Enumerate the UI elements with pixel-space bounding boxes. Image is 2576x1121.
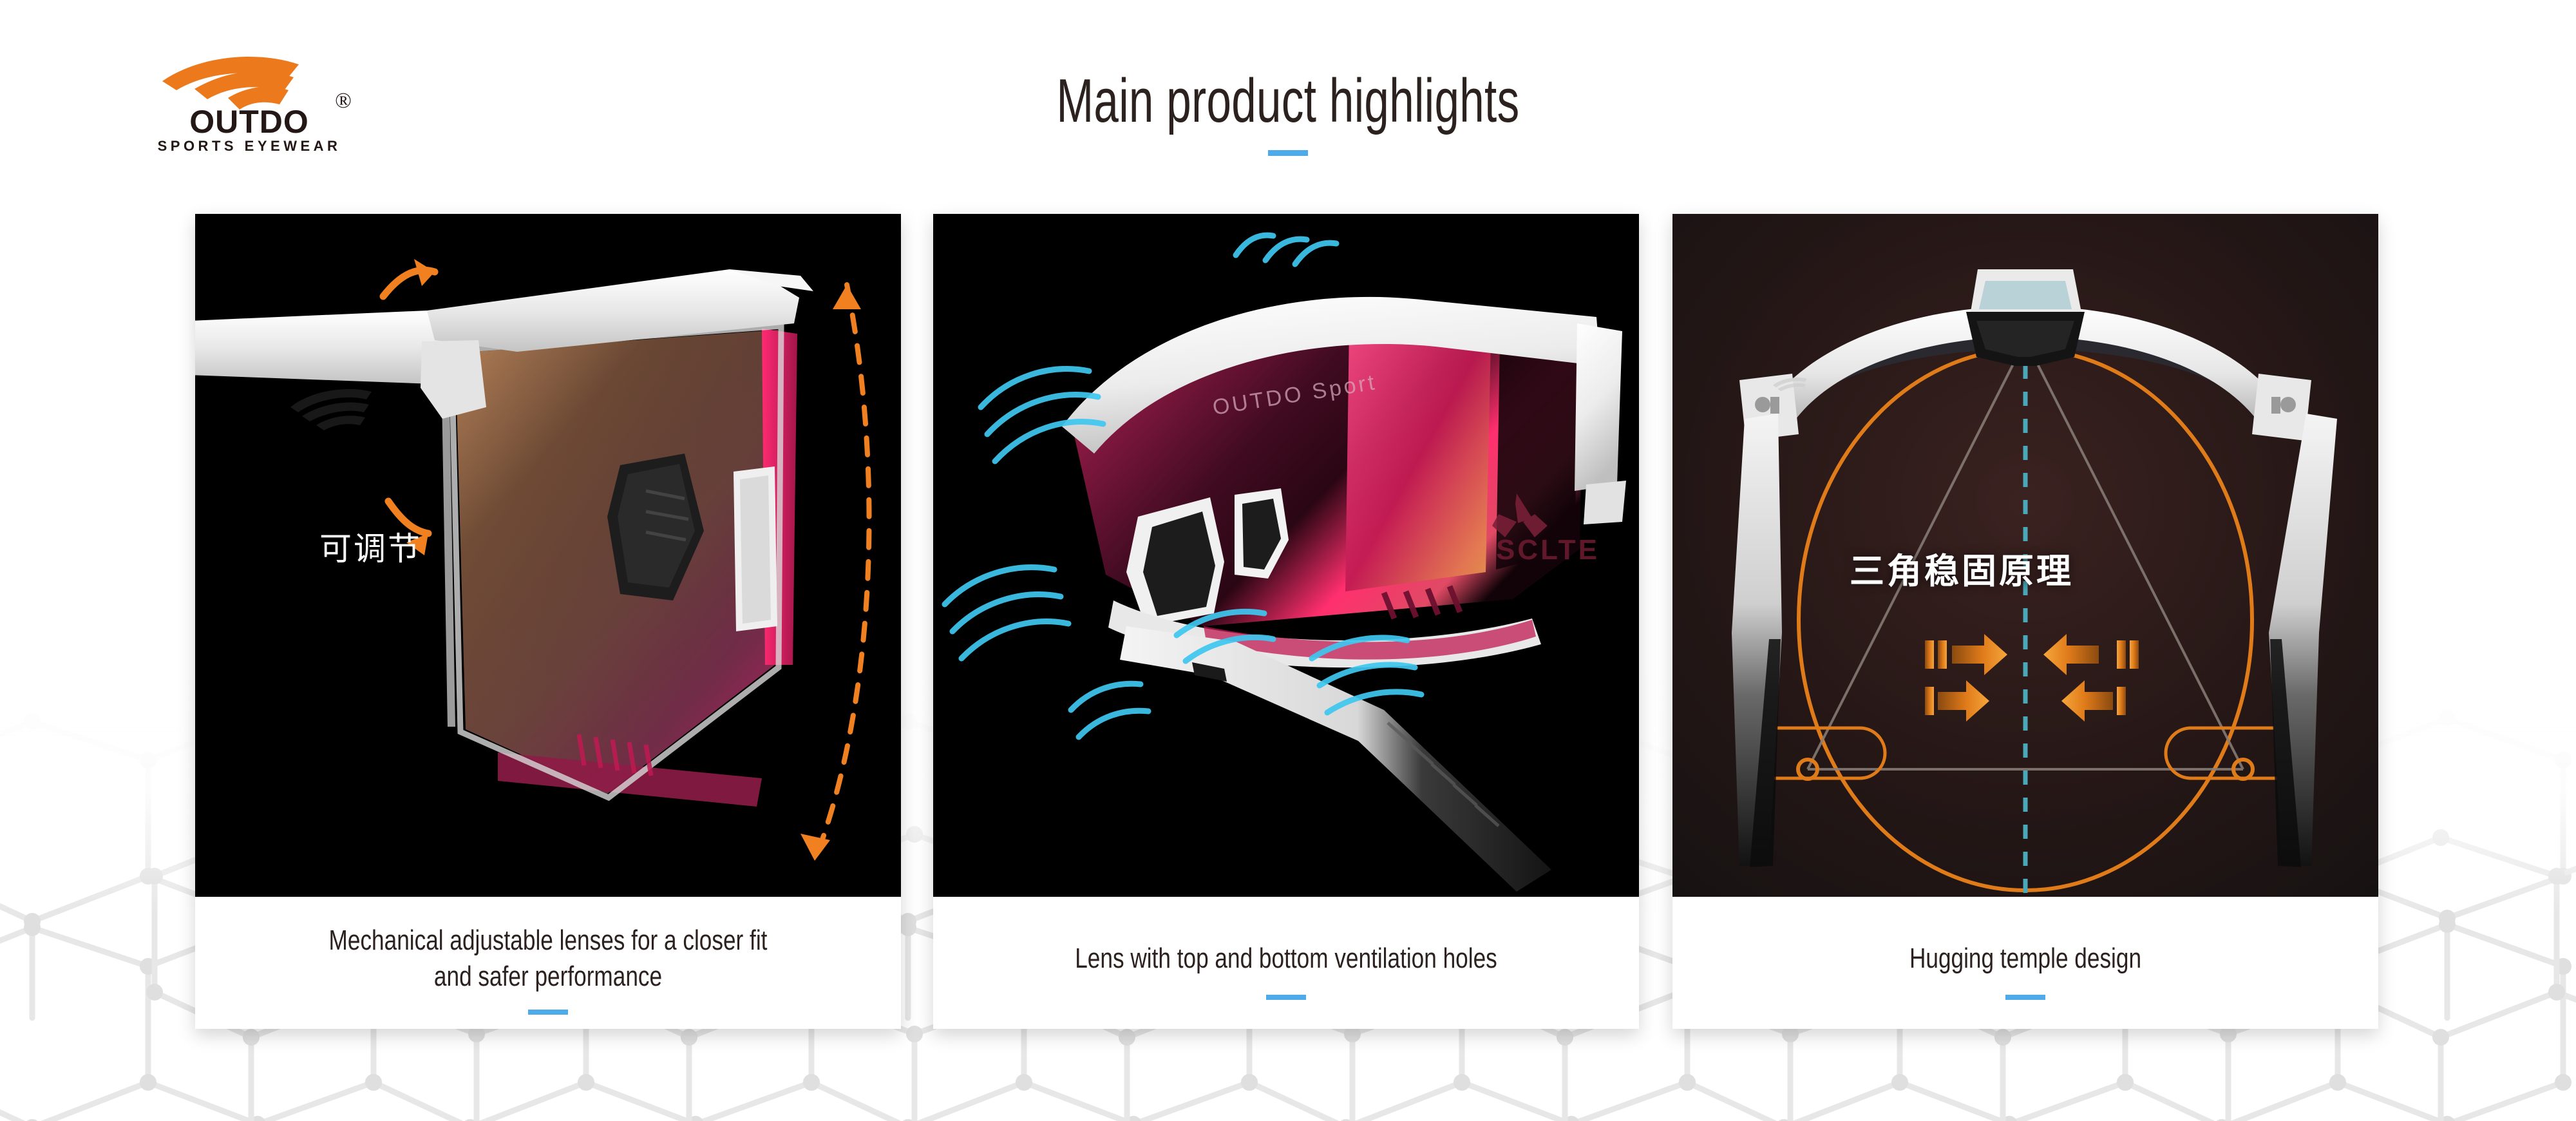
page-title: Main product highlights [361, 66, 2215, 137]
outdo-wordmark: OUTDO [143, 107, 355, 137]
highlight-card-hugging-temple[interactable]: 三角稳固原理 Hugging temple design [1672, 214, 2378, 1029]
caption-accent-bar [2005, 995, 2045, 1000]
caption-accent-bar [528, 1010, 568, 1015]
title-accent-bar [1268, 150, 1308, 156]
highlight-card-ventilation[interactable]: OUTDO Sport SCLTE [933, 214, 1639, 1029]
svg-text:OUTDO: OUTDO [189, 107, 309, 137]
card-caption-adjustable-lens: Mechanical adjustable lenses for a close… [195, 897, 901, 1029]
overlay-label-adjustable: 可调节 [319, 523, 422, 570]
highlight-card-adjustable-lens[interactable]: 可调节 Mechanical adjustable lenses for a c… [195, 214, 901, 1029]
card-media-adjustable-lens: 可调节 [195, 214, 901, 897]
sunglasses-adjustable-illustration [195, 214, 901, 897]
caption-text: Mechanical adjustable lenses for a close… [266, 923, 831, 995]
card-caption-hugging-temple: Hugging temple design [1672, 897, 2378, 1029]
svg-text:SCLTE: SCLTE [1496, 534, 1600, 566]
outdo-swoosh-icon [161, 53, 354, 112]
logo-tagline: SPORTS EYEWEAR [143, 138, 355, 155]
page-header: ® OUTDO SPORTS EYEWEAR Main product high… [0, 0, 2576, 213]
overlay-label-triangle-principle: 三角稳固原理 [1850, 542, 2074, 593]
caption-text: Lens with top and bottom ventilation hol… [1004, 941, 1569, 977]
caption-text: Hugging temple design [1743, 941, 2308, 977]
card-media-ventilation: OUTDO Sport SCLTE [933, 214, 1639, 897]
brand-logo: ® OUTDO SPORTS EYEWEAR [143, 53, 355, 149]
sunglasses-ventilation-illustration: OUTDO Sport SCLTE [933, 214, 1639, 897]
card-caption-ventilation: Lens with top and bottom ventilation hol… [933, 897, 1639, 1029]
highlight-cards-row: 可调节 Mechanical adjustable lenses for a c… [0, 214, 2576, 1032]
card-media-hugging-temple: 三角稳固原理 [1672, 214, 2378, 897]
caption-accent-bar [1266, 995, 1306, 1000]
